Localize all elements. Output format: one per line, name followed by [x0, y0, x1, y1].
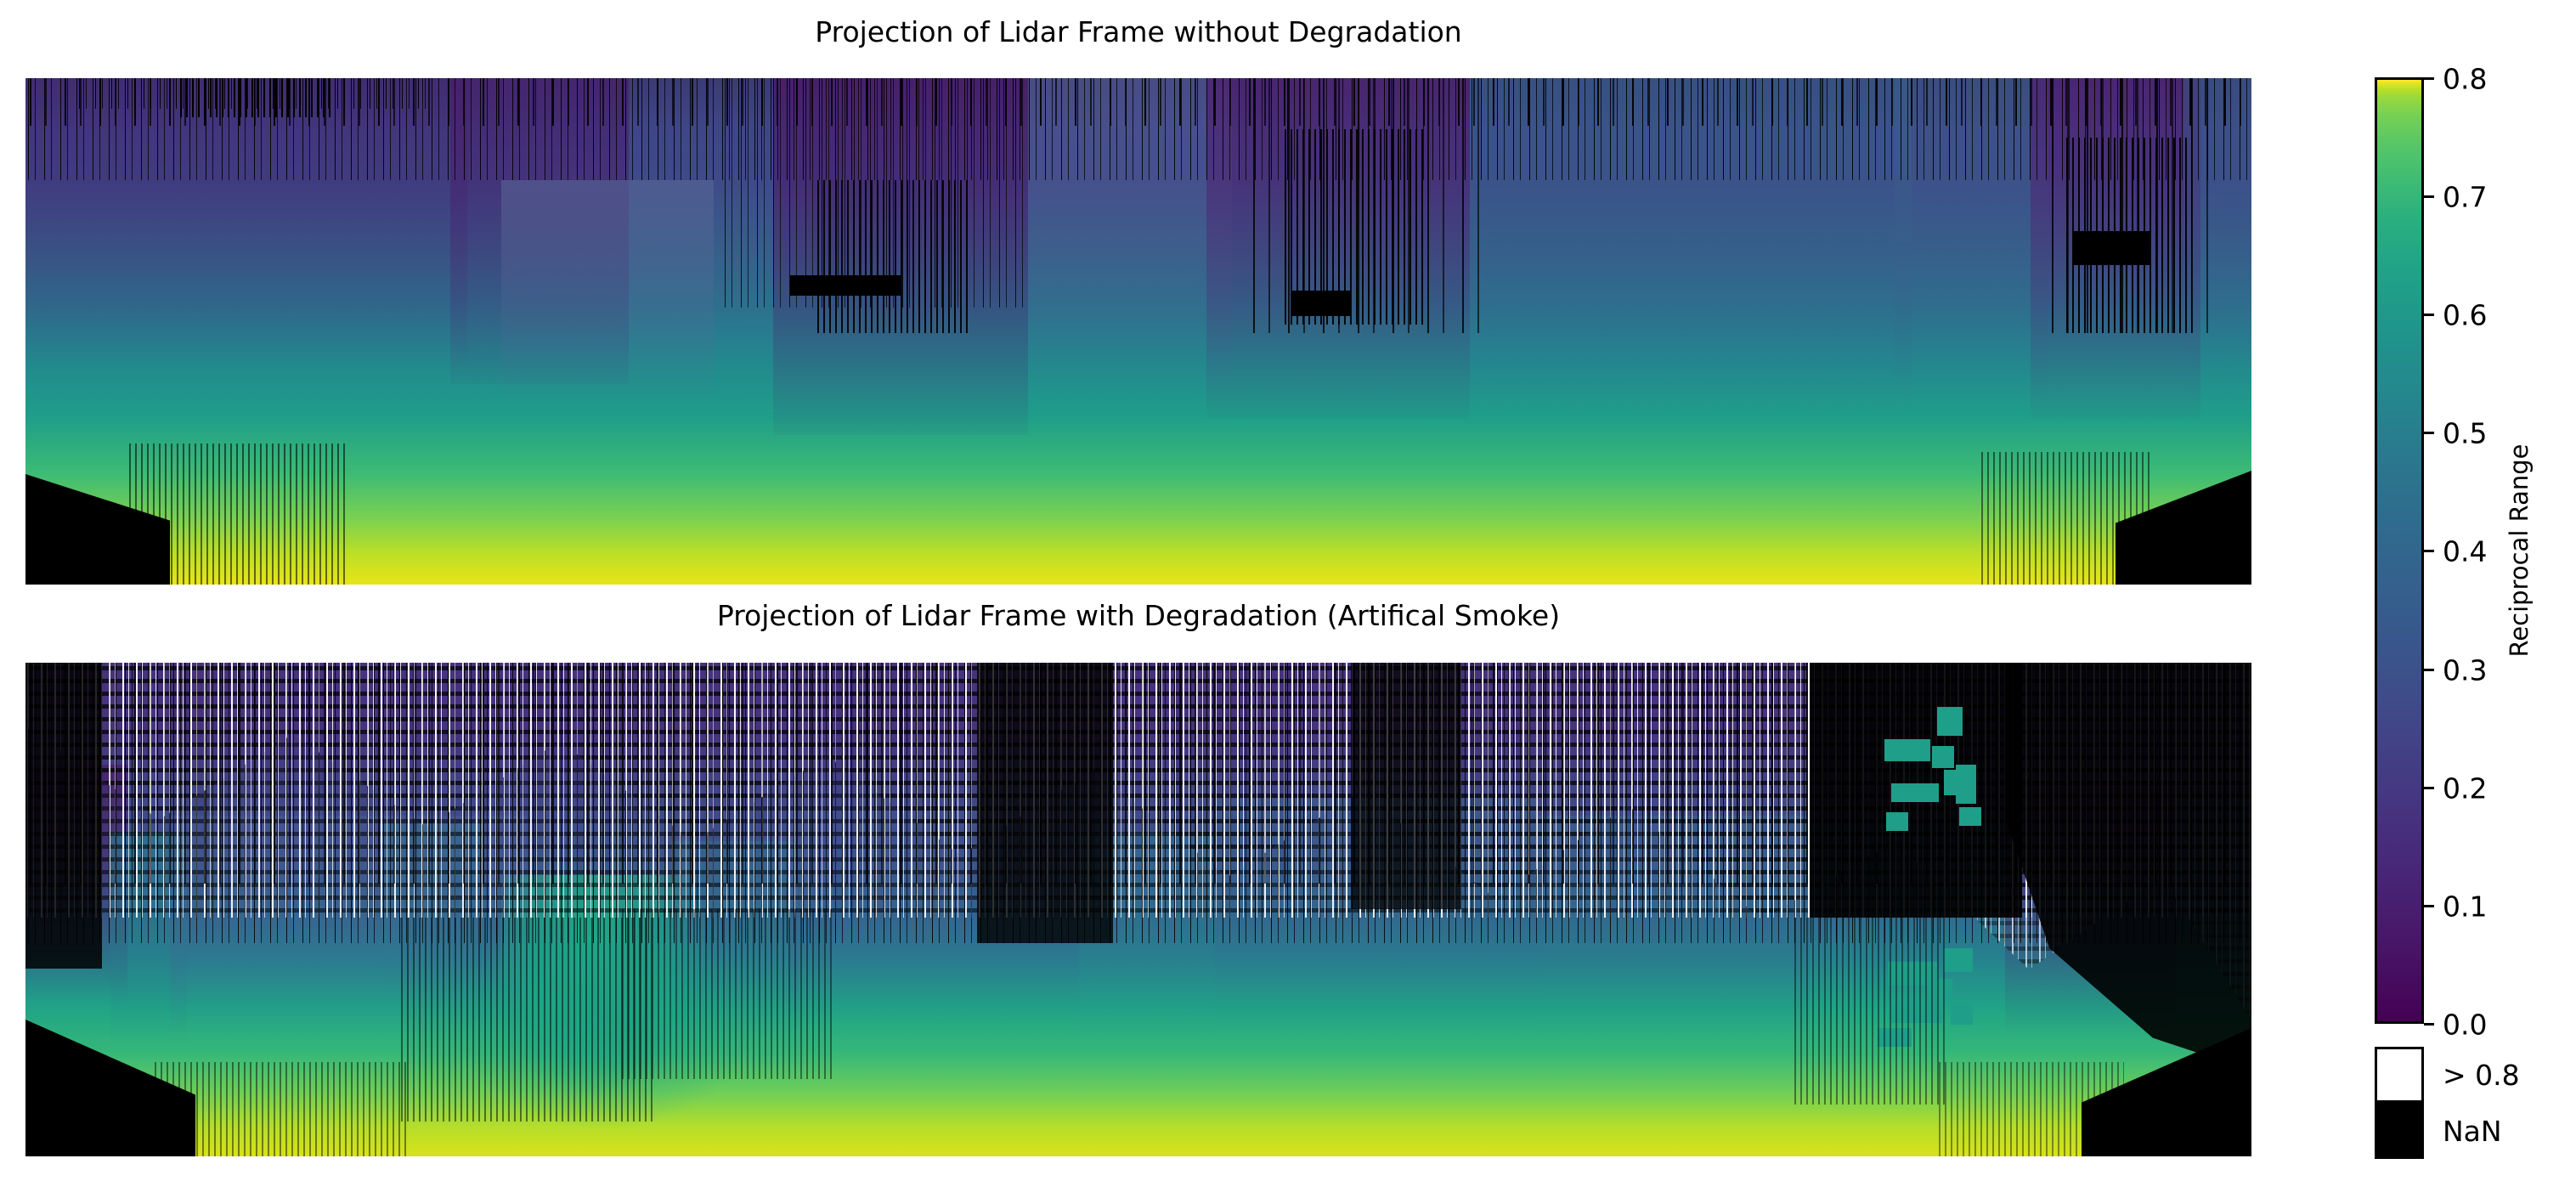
teal-structure — [1891, 783, 1939, 802]
colorbar-tick-label: 0.4 — [2443, 538, 2487, 566]
over-range-swatch — [2375, 1047, 2424, 1103]
colorbar-tick — [2424, 314, 2434, 316]
colorbar-tick-label: 0.0 — [2443, 1011, 2487, 1039]
teal-structure — [1951, 1004, 1973, 1025]
colorbar-tick-label: 0.3 — [2443, 657, 2487, 685]
nan-swatch — [2375, 1103, 2424, 1159]
teal-structure — [1884, 739, 1930, 761]
nan-region — [977, 663, 1113, 943]
nan-region — [2073, 231, 2149, 265]
nan-dropout-streaks — [1793, 918, 1946, 1105]
legend-item-nan: NaN — [2375, 1103, 2502, 1159]
colorbar-tick — [2424, 1023, 2434, 1026]
colorbar-tick — [2424, 195, 2434, 198]
nan-dropout-streaks — [620, 909, 833, 1079]
figure-canvas: Projection of Lidar Frame without Degrad… — [0, 0, 2576, 1181]
colorbar-tick — [2424, 905, 2434, 907]
lidar-projection-degraded — [25, 663, 2251, 1156]
over-range-label: > 0.8 — [2443, 1061, 2520, 1089]
nan-region — [790, 275, 901, 296]
panel-2-title: Projection of Lidar Frame with Degradati… — [25, 599, 2251, 633]
colorbar-tick — [2424, 77, 2434, 80]
colorbar-tick — [2424, 787, 2434, 789]
nan-dropout-streaks — [399, 918, 654, 1122]
colorbar-tick — [2424, 550, 2434, 552]
nan-dropout-streaks — [1980, 452, 2149, 585]
colorbar-tick — [2424, 669, 2434, 671]
colorbar-tick-label: 0.5 — [2443, 420, 2487, 448]
colorbar-gradient — [2375, 77, 2424, 1024]
colorbar-tick-label: 0.8 — [2443, 65, 2487, 93]
teal-structure — [1944, 948, 1973, 972]
colorbar-tick-label: 0.2 — [2443, 775, 2487, 803]
nan-dropout-streaks — [1937, 1062, 2124, 1156]
nan-region — [1351, 663, 1461, 909]
colorbar: 0.8 0.7 0.6 0.5 0.4 0.3 0.2 0.1 0.0 — [2375, 77, 2424, 1024]
nan-dropout-streaks — [127, 444, 348, 585]
nan-region — [25, 663, 102, 969]
lidar-projection-clean — [25, 78, 2251, 585]
colorbar-tick — [2424, 432, 2434, 434]
colorbar-tick-label: 0.6 — [2443, 302, 2487, 330]
panel-1-title: Projection of Lidar Frame without Degrad… — [25, 15, 2251, 49]
nan-dropout-streaks — [816, 180, 969, 333]
nan-dropout-streaks — [153, 1062, 408, 1156]
teal-structure — [1956, 765, 1976, 804]
colorbar-tick-label: 0.1 — [2443, 893, 2487, 921]
nan-dropout-streaks — [76, 78, 433, 109]
nan-region — [1291, 291, 1351, 316]
teal-structure — [1886, 812, 1908, 831]
teal-structure — [1959, 807, 1981, 826]
colorbar-axis-label: Reciprocal Range — [2505, 444, 2534, 657]
nan-label: NaN — [2443, 1117, 2502, 1145]
teal-structure — [1937, 707, 1963, 736]
legend-item-over-range: > 0.8 — [2375, 1047, 2520, 1103]
scene-blotch — [501, 180, 714, 401]
teal-structure — [1932, 746, 1954, 768]
colorbar-tick-label: 0.7 — [2443, 184, 2487, 212]
